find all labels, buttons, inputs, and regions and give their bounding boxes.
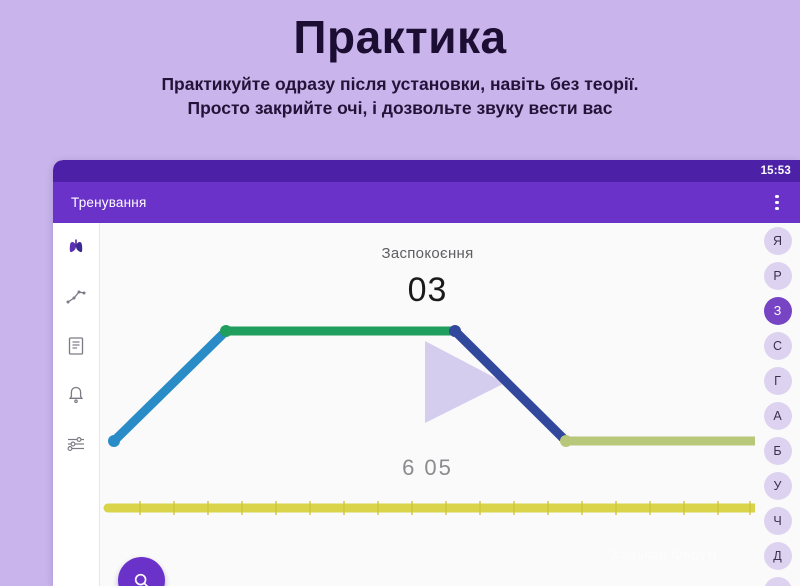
letter-button-3[interactable]: С — [764, 332, 792, 360]
chart-marker-exhale-start — [449, 325, 461, 337]
app-bar: Тренування — [53, 182, 800, 223]
search-icon — [131, 570, 153, 586]
letter-button-2[interactable]: З — [764, 297, 792, 325]
app-bar-title: Тренування — [71, 195, 146, 210]
promo-subtitle-line-2: Просто закрийте очі, і дозвольте звуку в… — [161, 96, 638, 121]
sliders-settings-icon[interactable] — [63, 431, 89, 457]
letter-button-7[interactable]: У — [764, 472, 792, 500]
session-timeline-ruler[interactable] — [108, 501, 755, 515]
device-frame: 15:53 Тренування — [53, 160, 800, 586]
letter-button-4[interactable]: Г — [764, 367, 792, 395]
letter-button-9[interactable]: Д — [764, 542, 792, 570]
letter-button-6[interactable]: Б — [764, 437, 792, 465]
promo-subtitle-line-1: Практикуйте одразу після установки, наві… — [161, 72, 638, 97]
status-bar-clock: 15:53 — [761, 165, 791, 177]
line-chart-icon[interactable] — [63, 284, 89, 310]
chart-marker-peak — [220, 325, 232, 337]
play-triangle-icon — [425, 341, 505, 423]
letter-button-0[interactable]: Я — [764, 227, 792, 255]
letter-button-5[interactable]: А — [764, 402, 792, 430]
breathing-curve-chart — [100, 223, 755, 586]
document-list-icon[interactable] — [63, 333, 89, 359]
app-body: Заспокоєння 03 6 05 — [53, 223, 800, 586]
page-title: Практика — [293, 12, 506, 63]
promo-page: Практика Практикуйте одразу після устано… — [0, 0, 800, 586]
lungs-icon[interactable] — [63, 235, 89, 261]
kebab-menu-icon[interactable] — [766, 191, 788, 215]
chart-marker-bottom — [560, 435, 572, 447]
letter-button-1[interactable]: Р — [764, 262, 792, 290]
right-letter-rail: Я Р З С Г А Б У Ч Д Ч — [755, 223, 800, 586]
letter-button-10[interactable]: Ч — [764, 577, 792, 586]
bell-icon[interactable] — [63, 382, 89, 408]
chart-marker-start — [108, 435, 120, 447]
left-nav-rail — [53, 223, 100, 586]
chart-segment-inhale — [114, 331, 226, 441]
promo-subtitle: Практикуйте одразу після установки, наві… — [161, 72, 638, 122]
letter-button-8[interactable]: Ч — [764, 507, 792, 535]
status-bar: 15:53 — [53, 160, 800, 182]
breathing-graph-area: Заспокоєння 03 6 05 — [100, 223, 755, 586]
promo-header: Практика Практикуйте одразу після устано… — [0, 0, 800, 158]
